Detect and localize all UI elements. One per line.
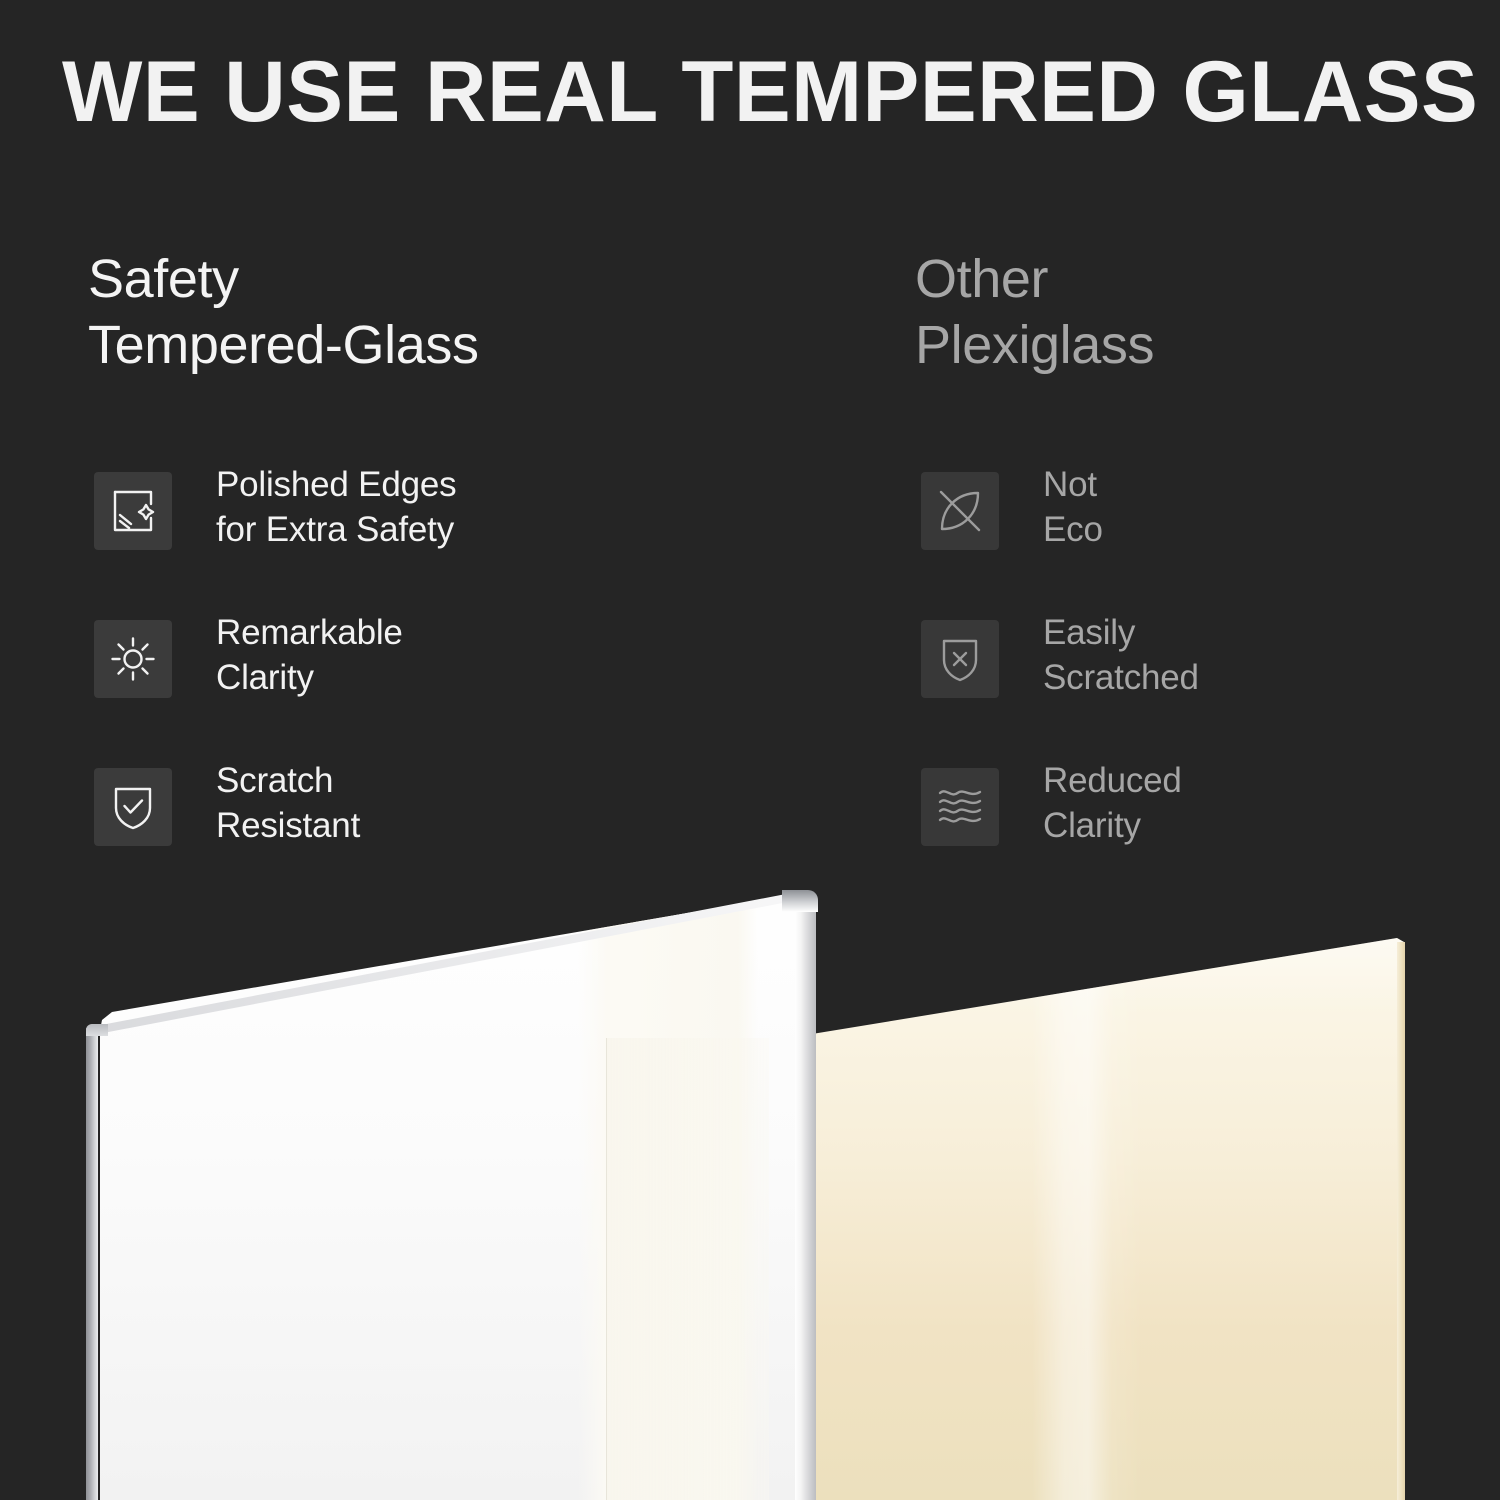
feature-label: Scratch Resistant: [216, 758, 360, 848]
tempered-glass-top-left-corner: [86, 1024, 108, 1036]
feature-label: Not Eco: [1043, 462, 1103, 552]
leaf-slashed-icon: [921, 472, 999, 550]
page-title: WE USE REAL TEMPERED GLASS: [62, 44, 1448, 140]
tempered-glass-right-bevel: [795, 900, 816, 1500]
feature-row: Polished Edges for Extra Safety: [88, 472, 728, 620]
feature-list-right: Not Eco Easily Scratched: [915, 472, 1435, 916]
column-title-right: Other Plexiglass: [915, 246, 1435, 378]
feature-row: Remarkable Clarity: [88, 620, 728, 768]
product-comparison-photo: [0, 860, 1500, 1500]
feature-label: Remarkable Clarity: [216, 610, 403, 700]
feature-label: Reduced Clarity: [1043, 758, 1182, 848]
polished-glass-sparkle-icon: [94, 472, 172, 550]
tempered-glass-top-right-corner: [782, 890, 818, 912]
column-safety-tempered-glass: Safety Tempered-Glass Polished Edges for…: [88, 246, 728, 378]
plexiglass-panel-right-edge: [1397, 942, 1405, 1500]
shield-check-icon: [94, 768, 172, 846]
feature-label: Polished Edges for Extra Safety: [216, 462, 456, 552]
sun-brightness-icon: [94, 620, 172, 698]
feature-row: Easily Scratched: [915, 620, 1435, 768]
feature-list-left: Polished Edges for Extra Safety Remarkab…: [88, 472, 728, 916]
shield-x-icon: [921, 620, 999, 698]
column-other-plexiglass: Other Plexiglass Not Eco: [915, 246, 1435, 378]
feature-row: Not Eco: [915, 472, 1435, 620]
tempered-glass-reflection-band: [606, 1038, 769, 1500]
wavy-lines-icon: [921, 768, 999, 846]
comparison-infographic: WE USE REAL TEMPERED GLASS Safety Temper…: [0, 0, 1500, 1500]
tempered-glass-left-bevel: [86, 1028, 98, 1500]
feature-label: Easily Scratched: [1043, 610, 1199, 700]
column-title-left: Safety Tempered-Glass: [88, 246, 728, 378]
